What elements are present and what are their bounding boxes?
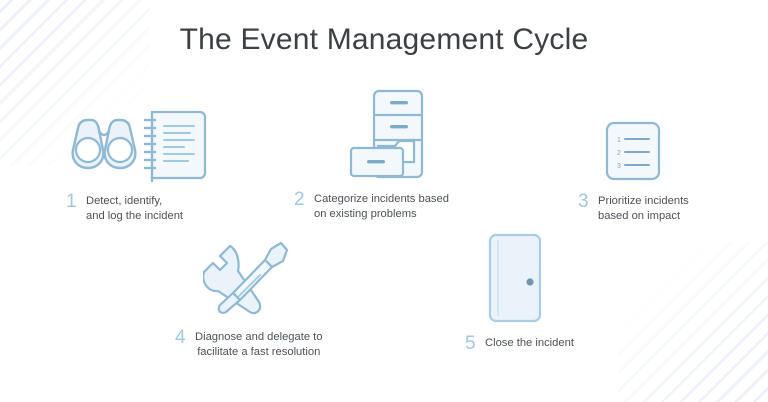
slide-canvas: The Event Management Cycle [0, 0, 768, 402]
step-item-1: 1 Detect, identify, and log the incident [52, 104, 252, 224]
step-label-2: Categorize incidents based on existing p… [314, 192, 449, 222]
svg-text:1: 1 [617, 137, 621, 144]
step-item-3: 1 2 3 3 Prioritize incidents based on im… [570, 104, 760, 224]
step-number-2: 2 [294, 192, 314, 207]
step-item-5: 5 Close the incident [455, 232, 655, 351]
binoculars-notebook-icon [52, 104, 252, 182]
wrench-screwdriver-icon [165, 240, 375, 318]
step-number-5: 5 [465, 336, 485, 351]
step-item-2: 2 Categorize incidents based on existing… [288, 88, 498, 222]
step-label-3: Prioritize incidents based on impact [598, 194, 689, 224]
door-icon [455, 232, 655, 324]
step-number-1: 1 [66, 194, 86, 209]
step-number-3: 3 [578, 194, 598, 209]
step-caption-5: 5 Close the incident [455, 336, 655, 351]
step-number-4: 4 [175, 330, 195, 345]
numbered-list-icon: 1 2 3 [570, 104, 760, 182]
step-item-4: 4 Diagnose and delegate to facilitate a … [165, 240, 375, 360]
svg-text:2: 2 [617, 150, 621, 157]
step-caption-2: 2 Categorize incidents based on existing… [288, 192, 498, 222]
step-label-1: Detect, identify, and log the incident [86, 194, 183, 224]
svg-text:3: 3 [617, 163, 621, 170]
step-label-5: Close the incident [485, 336, 574, 351]
filing-cabinet-icon [288, 88, 498, 180]
step-label-4: Diagnose and delegate to facilitate a fa… [195, 330, 323, 360]
step-caption-3: 3 Prioritize incidents based on impact [570, 194, 760, 224]
step-caption-4: 4 Diagnose and delegate to facilitate a … [165, 330, 375, 360]
step-caption-1: 1 Detect, identify, and log the incident [52, 194, 252, 224]
page-title: The Event Management Cycle [0, 23, 768, 57]
